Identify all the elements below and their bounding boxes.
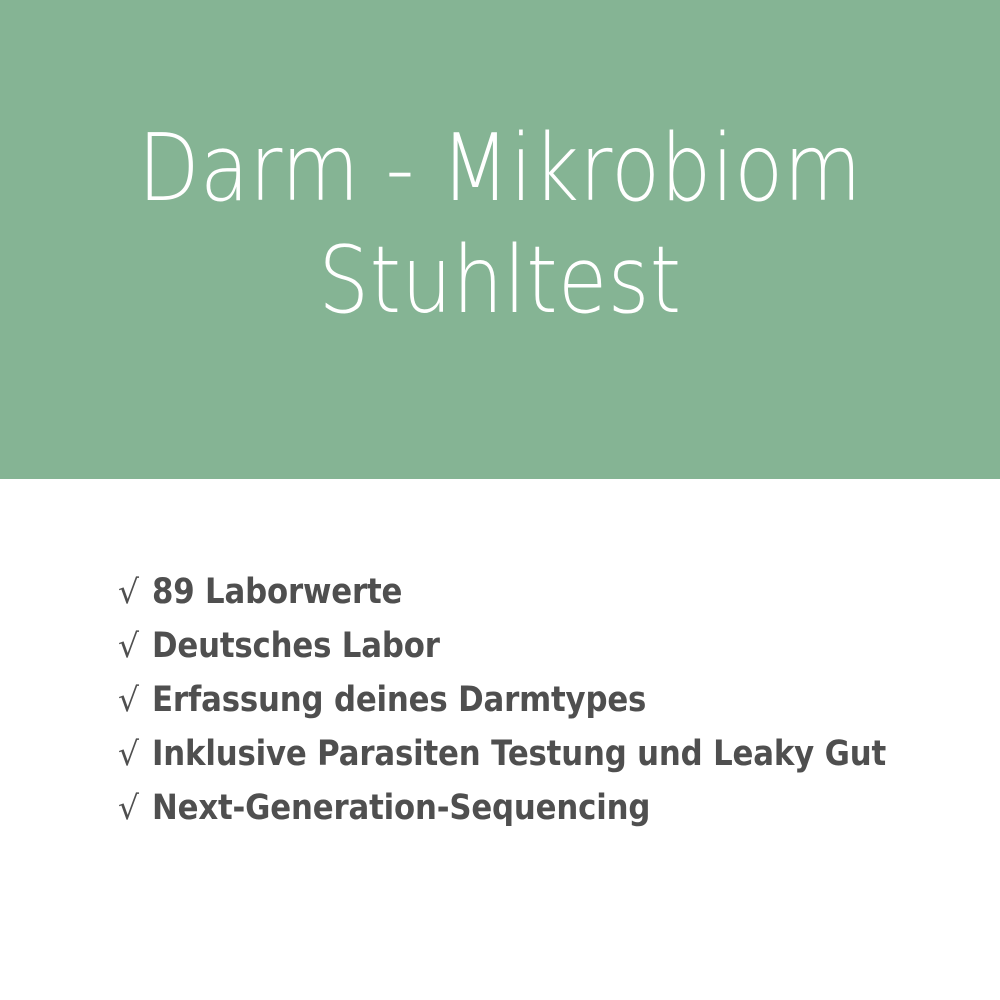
feature-label: Inklusive Parasiten Testung und Leaky Gu… <box>152 737 886 772</box>
check-icon: √ <box>118 629 152 662</box>
feature-label: Erfassung deines Darmtypes <box>152 683 646 718</box>
feature-label: Next-Generation-Sequencing <box>152 791 650 826</box>
list-item: √ Erfassung deines Darmtypes <box>118 683 978 737</box>
product-info-card: Darm - Mikrobiom Stuhltest √ 89 Laborwer… <box>0 0 1000 1000</box>
hero-banner: Darm - Mikrobiom Stuhltest <box>0 0 1000 479</box>
page-title: Darm - Mikrobiom Stuhltest <box>70 112 930 336</box>
features-list: √ 89 Laborwerte √ Deutsches Labor √ Erfa… <box>118 575 978 845</box>
feature-label: 89 Laborwerte <box>152 575 402 610</box>
footer-whitespace <box>0 860 1000 1000</box>
list-item: √ 89 Laborwerte <box>118 575 978 629</box>
list-item: √ Next-Generation-Sequencing <box>118 791 978 845</box>
feature-label: Deutsches Labor <box>152 629 440 664</box>
check-icon: √ <box>118 737 152 770</box>
check-icon: √ <box>118 683 152 716</box>
check-icon: √ <box>118 575 152 608</box>
list-item: √ Inklusive Parasiten Testung und Leaky … <box>118 737 978 791</box>
check-icon: √ <box>118 791 152 824</box>
list-item: √ Deutsches Labor <box>118 629 978 683</box>
